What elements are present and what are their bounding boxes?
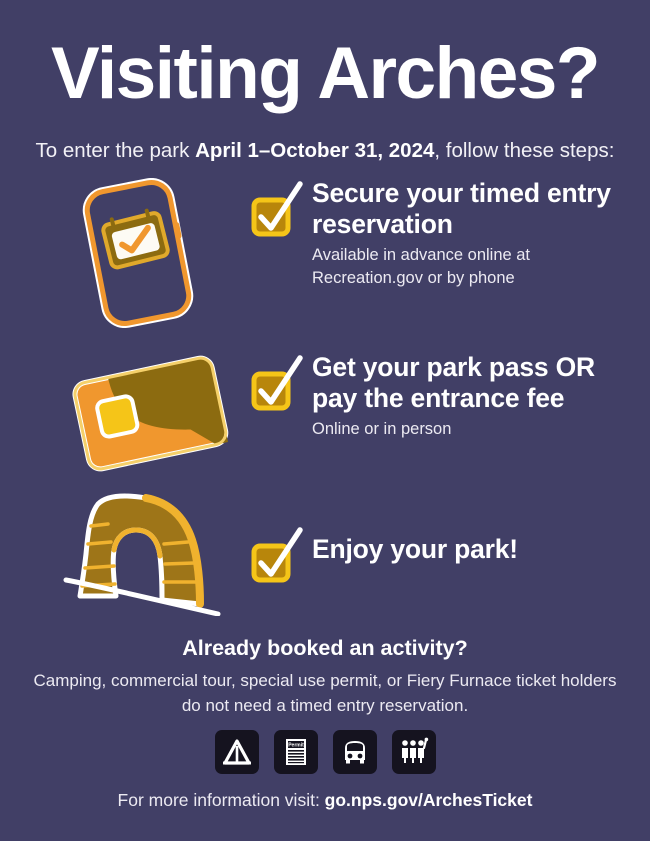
subheading-dates: April 1–October 31, 2024 [195, 139, 434, 162]
subheading: To enter the park April 1–October 31, 20… [0, 138, 650, 164]
step-subtitle: Available in advance online at Recreatio… [312, 244, 642, 290]
svg-text:Permit: Permit [288, 743, 304, 749]
checkbox-checked-icon [250, 524, 306, 584]
permit-document-icon: Permit [274, 730, 318, 774]
more-information-link[interactable]: For more information visit: go.nps.gov/A… [0, 790, 650, 811]
step-item: Secure your timed entry reservation Avai… [0, 178, 650, 338]
already-booked-title: Already booked an activity? [0, 636, 650, 661]
park-pass-card-icon [58, 352, 248, 482]
already-booked-line2: do not need a timed entry reservation. [0, 693, 650, 718]
step-text: Secure your timed entry reservation Avai… [312, 178, 642, 290]
checkbox-checked-icon [250, 352, 306, 412]
step-text: Get your park pass OR pay the entrance f… [312, 352, 642, 441]
already-booked-body: Camping, commercial tour, special use pe… [0, 668, 650, 718]
subheading-prefix: To enter the park [36, 139, 196, 162]
page-title: Visiting Arches? [0, 34, 650, 114]
step-title: Enjoy your park! [312, 534, 642, 565]
checkbox-checked-icon [250, 178, 306, 238]
step-item: Get your park pass OR pay the entrance f… [0, 352, 650, 482]
footer-prefix: For more information visit: [118, 790, 325, 810]
camping-tent-icon [215, 730, 259, 774]
guided-group-icon [392, 730, 436, 774]
step-title: Secure your timed entry reservation [312, 178, 642, 240]
step-subtitle: Online or in person [312, 418, 642, 441]
footer-url[interactable]: go.nps.gov/ArchesTicket [325, 790, 533, 810]
step-text: Enjoy your park! [312, 534, 642, 569]
step-item: Enjoy your park! [0, 486, 650, 616]
phone-with-reservation-icon [58, 178, 248, 308]
already-booked-line1: Camping, commercial tour, special use pe… [0, 668, 650, 693]
subheading-suffix: , follow these steps: [434, 139, 614, 162]
poster-canvas: Visiting Arches? To enter the park April… [0, 0, 650, 841]
tour-bus-icon [333, 730, 377, 774]
step-title: Get your park pass OR pay the entrance f… [312, 352, 642, 414]
pictogram-row: Permit [0, 730, 650, 774]
delicate-arch-icon [58, 486, 248, 616]
